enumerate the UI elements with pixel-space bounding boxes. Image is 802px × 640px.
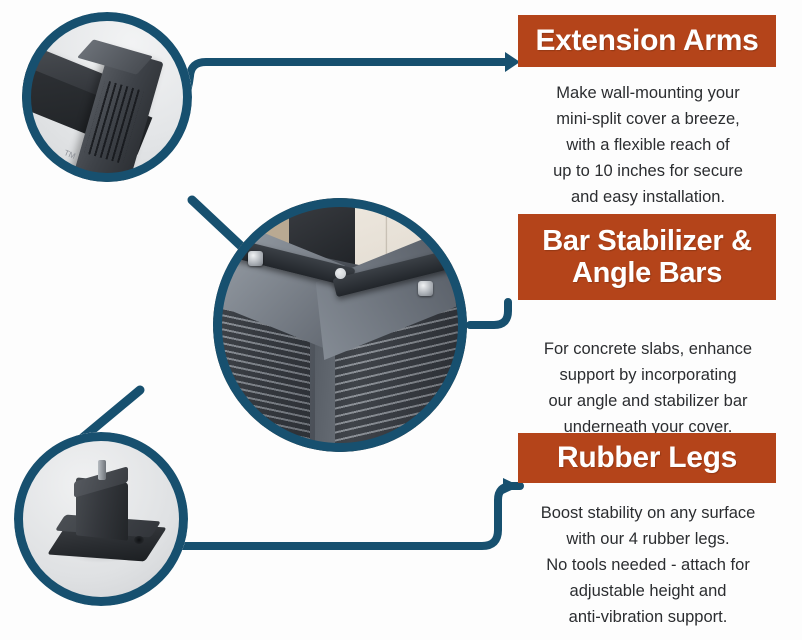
body-line: support by incorporating	[510, 362, 786, 388]
stabilizer-bolt-left	[248, 251, 263, 266]
body-line: anti-vibration support.	[510, 604, 786, 630]
rubber-leg-bolt-hole	[134, 536, 144, 544]
heading-line-1: Bar Stabilizer &	[542, 225, 752, 257]
stabilizer-bar-center-hole	[335, 268, 346, 279]
body-line: with a flexible reach of	[510, 132, 786, 158]
body-line: our angle and stabilizer bar	[510, 388, 786, 414]
body-line: with our 4 rubber legs.	[510, 526, 786, 552]
connector-arms	[168, 62, 507, 120]
photo-circle-extension-arms[interactable]: TM	[22, 12, 192, 182]
extension-arms-photo: TM	[22, 12, 192, 182]
rubber-leg-photo	[14, 432, 188, 606]
feature-body-rubber-legs: Boost stability on any surface with our …	[510, 500, 786, 630]
body-line: Make wall-mounting your	[510, 80, 786, 106]
body-line: adjustable height and	[510, 578, 786, 604]
body-line: mini-split cover a breeze,	[510, 106, 786, 132]
arm-tm-mark: TM	[63, 148, 77, 161]
connector-legs	[178, 486, 520, 546]
feature-heading-rubber-legs: Rubber Legs	[518, 433, 776, 483]
feature-heading-bar-stabilizer: Bar Stabilizer & Angle Bars	[518, 214, 776, 300]
body-line: up to 10 inches for secure	[510, 158, 786, 184]
cover-corner-photo	[213, 198, 467, 452]
rubber-leg-threaded-stud	[98, 460, 106, 480]
photo-circle-rubber-leg[interactable]	[14, 432, 188, 606]
feature-body-bar-stabilizer: For concrete slabs, enhance support by i…	[510, 336, 786, 440]
feature-heading-extension-arms: Extension Arms	[518, 15, 776, 67]
stabilizer-bolt-right	[418, 281, 433, 296]
body-line: No tools needed - attach for	[510, 552, 786, 578]
body-line: For concrete slabs, enhance	[510, 336, 786, 362]
infographic-canvas: TM	[0, 0, 802, 640]
heading-line-2: Angle Bars	[572, 257, 722, 289]
body-line: Boost stability on any surface	[510, 500, 786, 526]
body-line: and easy installation.	[510, 184, 786, 210]
connector-stabilizer	[470, 302, 508, 325]
feature-body-extension-arms: Make wall-mounting your mini-split cover…	[510, 80, 786, 210]
photo-circle-cover-corner[interactable]	[213, 198, 467, 452]
